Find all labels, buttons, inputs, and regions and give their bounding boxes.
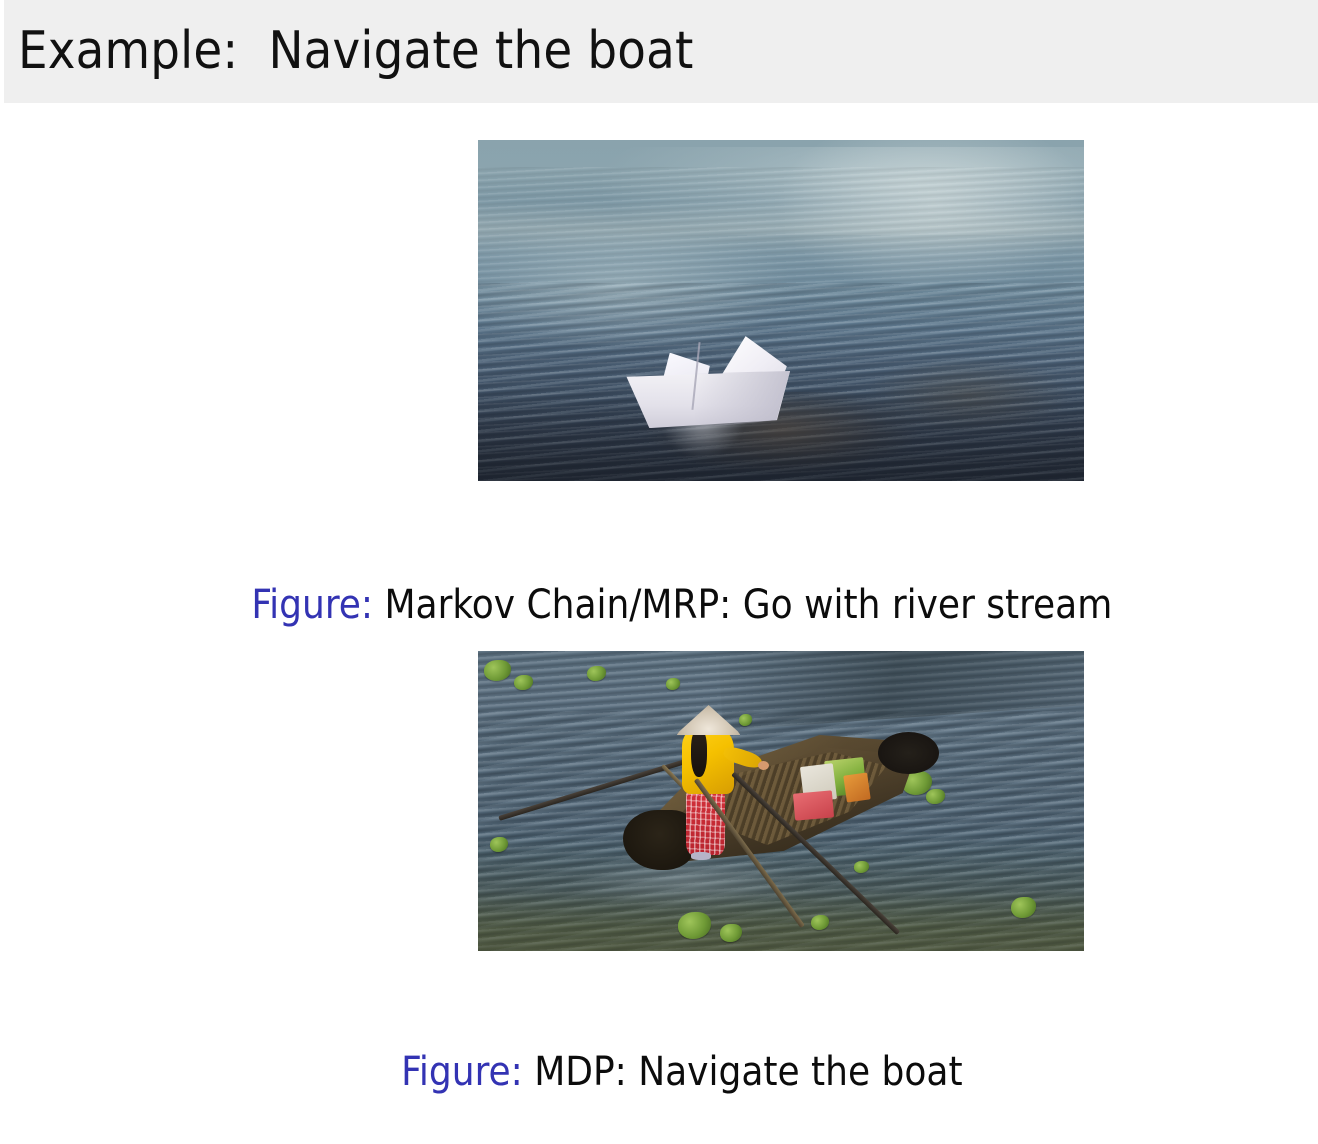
figure-caption-text: Markov Chain/MRP: Go with river stream	[373, 582, 1112, 628]
rower-foot	[691, 852, 710, 860]
cargo-box-pink	[793, 790, 835, 820]
cargo-bag-orange	[843, 772, 871, 802]
slide-header-bar: Example: Navigate the boat	[0, 0, 1318, 103]
rower-hair	[691, 729, 707, 777]
figure-caption-text: MDP: Navigate the boat	[523, 1049, 963, 1095]
figure-caption-label: Figure:	[401, 1049, 523, 1095]
water-hyacinth-icon	[514, 675, 532, 690]
paper-boat-hull-shading	[692, 371, 790, 428]
figure-caption-label: Figure:	[251, 582, 373, 628]
paper-boat-icon	[626, 336, 790, 428]
page-title: Example: Navigate the boat	[18, 16, 693, 86]
boat-wake	[563, 855, 842, 921]
header-left-edge	[0, 0, 4, 103]
figure-caption: Figure: MDP: Navigate the boat	[0, 1000, 1318, 1144]
wooden-boat-bow	[623, 810, 696, 870]
rower-hand	[758, 761, 769, 770]
wooden-boat-stern	[878, 732, 939, 774]
rower-torso	[682, 728, 734, 794]
rower-pants	[686, 789, 725, 855]
paper-boat-photo	[478, 140, 1084, 481]
river-boat-photo	[478, 651, 1084, 951]
